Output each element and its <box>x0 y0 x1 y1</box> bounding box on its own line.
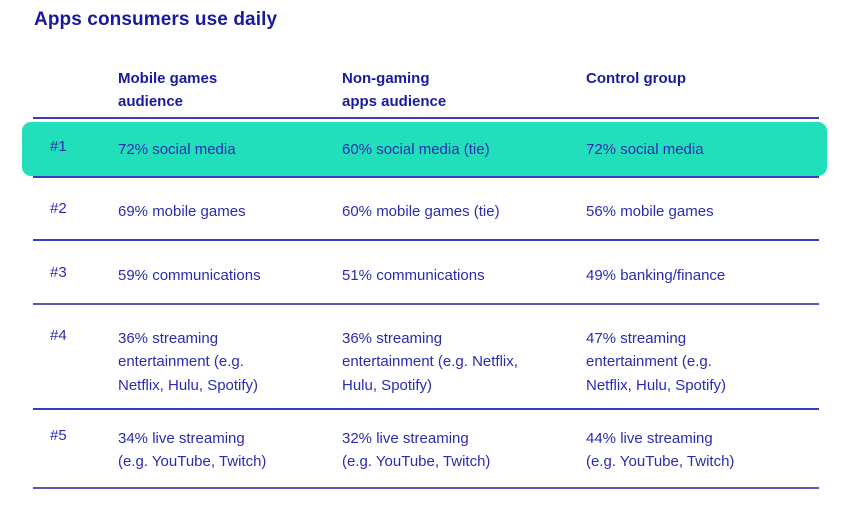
table-row: 34% live streaming (e.g. YouTube, Twitch… <box>118 427 336 474</box>
table-row: 60% mobile games (tie) <box>342 200 582 223</box>
apps-usage-table: Mobile games audience Non-gaming apps au… <box>0 0 850 522</box>
table-row: 36% streaming entertainment (e.g. Netfli… <box>342 327 582 397</box>
table-row: 44% live streaming (e.g. YouTube, Twitch… <box>586 427 831 474</box>
table-row-rank: #2 <box>50 200 114 217</box>
table-row: 59% communications <box>118 264 336 287</box>
divider-row-2 <box>33 239 819 241</box>
column-header-control-group: Control group <box>586 68 831 91</box>
divider-table-bottom <box>33 487 819 489</box>
divider-row-3 <box>33 303 819 305</box>
table-row-rank: #3 <box>50 264 114 281</box>
table-row-rank: #4 <box>50 327 114 344</box>
table-row: 69% mobile games <box>118 200 336 223</box>
table-row: 47% streaming entertainment (e.g. Netfli… <box>586 327 831 397</box>
table-row: 36% streaming entertainment (e.g. Netfli… <box>118 327 336 397</box>
table-row: 72% social media <box>586 138 831 161</box>
table-row: 32% live streaming (e.g. YouTube, Twitch… <box>342 427 582 474</box>
column-header-mobile-games-audience: Mobile games audience <box>118 68 336 114</box>
table-row: 51% communications <box>342 264 582 287</box>
table-row: 49% banking/finance <box>586 264 831 287</box>
divider-row-4 <box>33 408 819 410</box>
table-row: 72% social media <box>118 138 336 161</box>
table-row-rank: #5 <box>50 427 114 444</box>
table-row: 56% mobile games <box>586 200 831 223</box>
table-row: 60% social media (tie) <box>342 138 582 161</box>
page-root: Apps consumers use daily Mobile games au… <box>0 0 850 522</box>
divider-row-1 <box>33 176 819 178</box>
table-row-rank: #1 <box>50 138 114 155</box>
column-header-non-gaming-apps-audience: Non-gaming apps audience <box>342 68 582 114</box>
divider-header <box>33 117 819 119</box>
